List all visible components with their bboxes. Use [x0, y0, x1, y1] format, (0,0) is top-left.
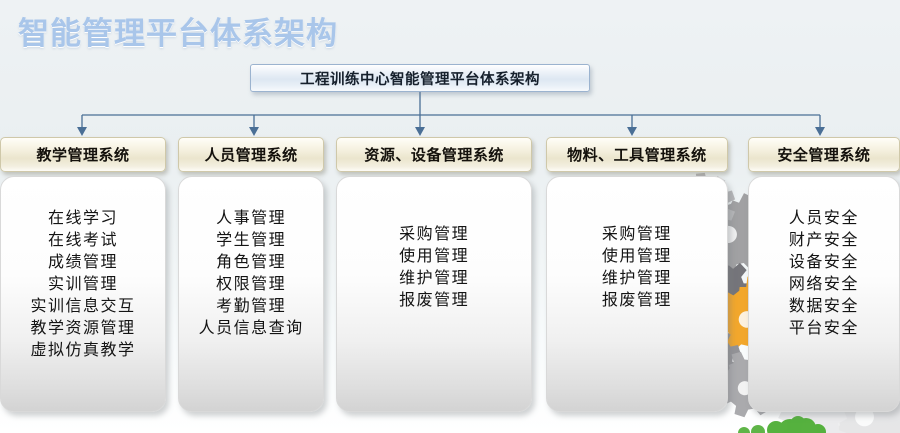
page-title: 智能管理平台体系架构	[18, 8, 338, 53]
architecture-columns: 教学管理系统 在线学习 在线考试 成绩管理 实训管理 实训信息交互 教学资源管理…	[0, 137, 900, 417]
column-teaching-management: 教学管理系统 在线学习 在线考试 成绩管理 实训管理 实训信息交互 教学资源管理…	[0, 137, 166, 417]
list-item[interactable]: 财产安全	[789, 229, 859, 251]
column-header-label: 物料、工具管理系统	[567, 144, 707, 165]
list-item[interactable]: 虚拟仿真教学	[31, 339, 136, 361]
list-item[interactable]: 在线考试	[48, 229, 118, 251]
column-safety-management: 安全管理系统 人员安全 财产安全 设备安全 网络安全 数据安全 平台安全	[748, 137, 900, 417]
list-item[interactable]: 权限管理	[216, 273, 286, 295]
list-item[interactable]: 教学资源管理	[31, 317, 136, 339]
list-item[interactable]: 维护管理	[399, 267, 469, 289]
list-item[interactable]: 报废管理	[399, 289, 469, 311]
list-item[interactable]: 学生管理	[216, 229, 286, 251]
column-resource-equipment-management: 资源、设备管理系统 采购管理 使用管理 维护管理 报废管理	[336, 137, 532, 417]
list-item[interactable]: 报废管理	[602, 289, 672, 311]
column-header-label: 教学管理系统	[37, 144, 130, 165]
list-item[interactable]: 使用管理	[602, 245, 672, 267]
list-item[interactable]: 在线学习	[48, 207, 118, 229]
list-item[interactable]: 人事管理	[216, 207, 286, 229]
column-panel-resource-equipment-management: 采购管理 使用管理 维护管理 报废管理	[336, 176, 532, 412]
column-header-label: 人员管理系统	[205, 144, 298, 165]
list-item[interactable]: 考勤管理	[216, 295, 286, 317]
column-panel-personnel-management: 人事管理 学生管理 角色管理 权限管理 考勤管理 人员信息查询	[178, 176, 324, 412]
column-panel-teaching-management: 在线学习 在线考试 成绩管理 实训管理 实训信息交互 教学资源管理 虚拟仿真教学	[0, 176, 166, 412]
list-item[interactable]: 实训管理	[48, 273, 118, 295]
column-header-label: 资源、设备管理系统	[364, 144, 504, 165]
list-item[interactable]: 平台安全	[789, 317, 859, 339]
column-header-personnel-management[interactable]: 人员管理系统	[178, 137, 324, 172]
column-header-resource-equipment-management[interactable]: 资源、设备管理系统	[336, 137, 532, 172]
list-item[interactable]: 维护管理	[602, 267, 672, 289]
list-item[interactable]: 成绩管理	[48, 251, 118, 273]
column-personnel-management: 人员管理系统 人事管理 学生管理 角色管理 权限管理 考勤管理 人员信息查询	[178, 137, 324, 417]
column-header-material-tool-management[interactable]: 物料、工具管理系统	[546, 137, 728, 172]
root-node[interactable]: 工程训练中心智能管理平台体系架构	[250, 64, 590, 92]
list-item[interactable]: 数据安全	[789, 295, 859, 317]
column-header-safety-management[interactable]: 安全管理系统	[748, 137, 900, 172]
list-item[interactable]: 人员安全	[789, 207, 859, 229]
list-item[interactable]: 网络安全	[789, 273, 859, 295]
list-item[interactable]: 使用管理	[399, 245, 469, 267]
column-header-teaching-management[interactable]: 教学管理系统	[0, 137, 166, 172]
list-item[interactable]: 实训信息交互	[31, 295, 136, 317]
list-item[interactable]: 设备安全	[789, 251, 859, 273]
column-header-label: 安全管理系统	[777, 144, 870, 165]
list-item[interactable]: 人员信息查询	[199, 317, 304, 339]
list-item[interactable]: 采购管理	[399, 223, 469, 245]
column-panel-safety-management: 人员安全 财产安全 设备安全 网络安全 数据安全 平台安全	[748, 176, 900, 412]
column-panel-material-tool-management: 采购管理 使用管理 维护管理 报废管理	[546, 176, 728, 412]
root-node-label: 工程训练中心智能管理平台体系架构	[300, 68, 540, 89]
column-material-tool-management: 物料、工具管理系统 采购管理 使用管理 维护管理 报废管理	[546, 137, 728, 417]
list-item[interactable]: 采购管理	[602, 223, 672, 245]
list-item[interactable]: 角色管理	[216, 251, 286, 273]
